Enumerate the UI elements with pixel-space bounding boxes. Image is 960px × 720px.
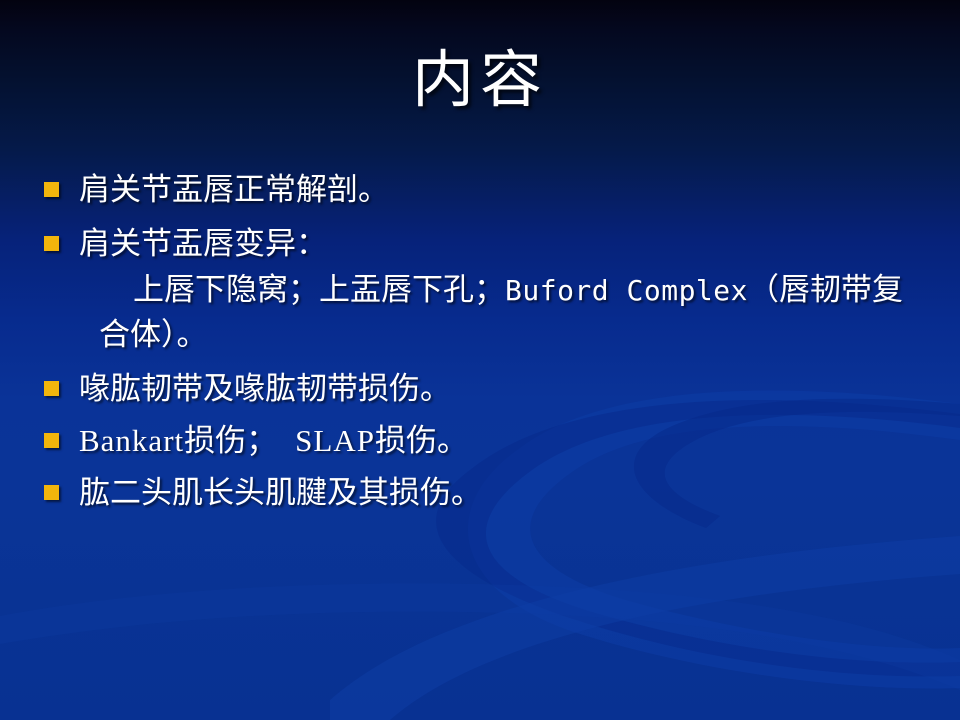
presentation-slide: 内容 肩关节盂唇正常解剖。 肩关节盂唇变异： 上唇下隐窝；上盂唇下孔；Bufor… xyxy=(0,0,960,720)
list-item: Bankart损伤；SLAP损伤。 xyxy=(44,419,924,463)
sub-item-text-part1: 上唇下隐窝；上盂唇下孔； xyxy=(133,272,505,307)
sub-list-item: 上唇下隐窝；上盂唇下孔；Buford Complex（唇韧带复合体）。 xyxy=(44,268,909,357)
content-list: 肩关节盂唇正常解剖。 肩关节盂唇变异： 上唇下隐窝；上盂唇下孔；Buford C… xyxy=(44,168,924,521)
list-item: 喙肱韧带及喙肱韧带损伤。 xyxy=(44,367,924,411)
bullet-square-icon xyxy=(44,236,59,251)
list-item-label: Bankart损伤；SLAP损伤。 xyxy=(79,419,924,463)
page-title: 内容 xyxy=(0,44,960,118)
bullet-square-icon xyxy=(44,182,59,197)
list-item-cn-1: 损伤； xyxy=(184,423,277,458)
bullet-square-icon xyxy=(44,433,59,448)
list-item: 肩关节盂唇正常解剖。 xyxy=(44,168,924,212)
list-item-label: 肩关节盂唇变异： xyxy=(79,222,924,266)
list-item: 肱二头肌长头肌腱及其损伤。 xyxy=(44,471,924,515)
list-item-label: 肩关节盂唇正常解剖。 xyxy=(79,168,924,212)
sub-item-text-latin: Buford Complex xyxy=(505,274,748,307)
bullet-square-icon xyxy=(44,485,59,500)
list-item-label: 喙肱韧带及喙肱韧带损伤。 xyxy=(79,367,924,411)
bullet-square-icon xyxy=(44,381,59,396)
list-item-latin-slap: SLAP xyxy=(295,423,375,458)
list-item-cn-2: 损伤。 xyxy=(375,423,468,458)
list-item-label: 肱二头肌长头肌腱及其损伤。 xyxy=(79,471,924,515)
list-item-latin-bankart: Bankart xyxy=(79,423,184,458)
list-item: 肩关节盂唇变异： xyxy=(44,222,924,266)
